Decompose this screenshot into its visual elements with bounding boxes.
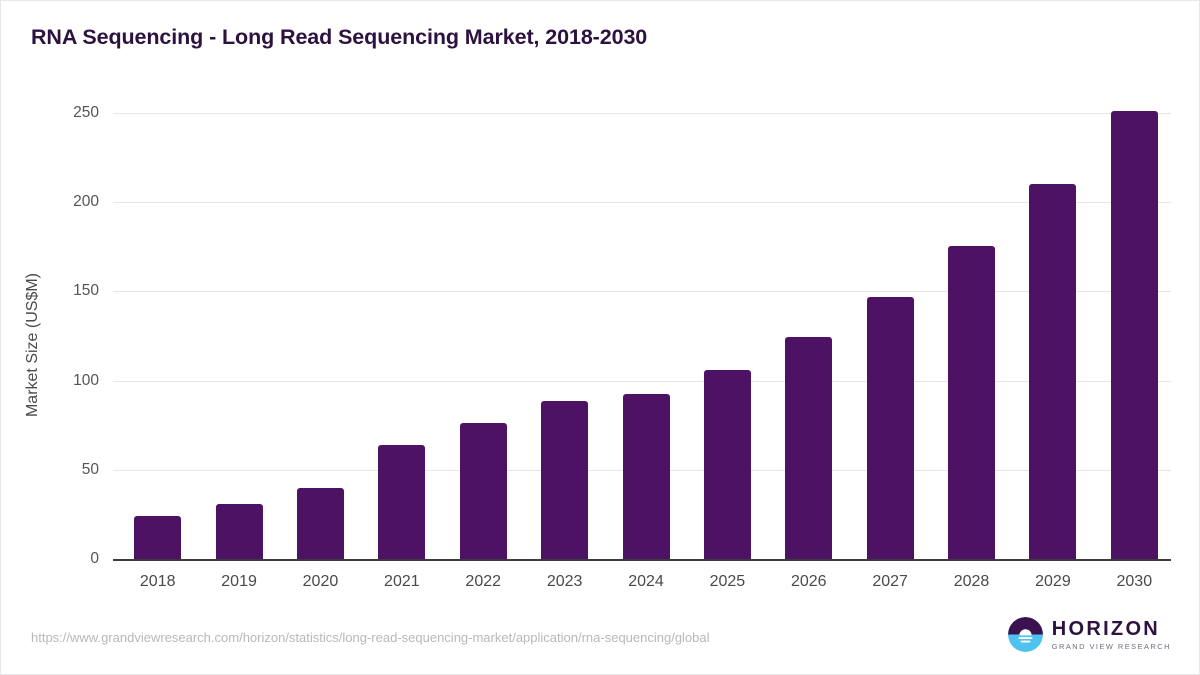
bar-2025[interactable]: [704, 370, 751, 559]
bar-2029[interactable]: [1029, 184, 1076, 559]
bar-2019[interactable]: [216, 504, 263, 559]
x-tick-label-2021: 2021: [384, 573, 420, 591]
y-tick-label: 250: [1, 104, 99, 122]
logo-subtitle: GRAND VIEW RESEARCH: [1052, 643, 1171, 650]
bar-2024[interactable]: [623, 394, 670, 559]
bar-2030[interactable]: [1111, 111, 1158, 559]
x-tick-label-2023: 2023: [547, 573, 583, 591]
bar-2022[interactable]: [460, 423, 507, 559]
gridline: [113, 113, 1171, 114]
x-tick-label-2029: 2029: [1035, 573, 1071, 591]
horizon-sun-circle-icon: [1008, 617, 1043, 652]
y-tick-label: 200: [1, 193, 99, 211]
logo-wordmark: HORIZON: [1052, 619, 1171, 639]
x-tick-label-2024: 2024: [628, 573, 664, 591]
bar-2021[interactable]: [378, 445, 425, 559]
y-tick-label: 150: [1, 282, 99, 300]
x-tick-label-2028: 2028: [954, 573, 990, 591]
y-tick-label: 50: [1, 461, 99, 479]
bar-2020[interactable]: [297, 488, 344, 559]
x-tick-label-2020: 2020: [303, 573, 339, 591]
gridline: [113, 291, 1171, 292]
bar-2018[interactable]: [134, 516, 181, 559]
page-title: RNA Sequencing - Long Read Sequencing Ma…: [31, 25, 647, 50]
gridline: [113, 202, 1171, 203]
y-tick-label: 100: [1, 372, 99, 390]
x-tick-label-2027: 2027: [872, 573, 908, 591]
chart-page: RNA Sequencing - Long Read Sequencing Ma…: [0, 0, 1200, 675]
horizon-logo: HORIZON GRAND VIEW RESEARCH: [1008, 617, 1171, 652]
y-axis-tick-labels: 050100150200250: [1, 1, 99, 675]
bar-2023[interactable]: [541, 401, 588, 559]
x-tick-label-2022: 2022: [465, 573, 501, 591]
x-tick-label-2026: 2026: [791, 573, 827, 591]
x-tick-label-2018: 2018: [140, 573, 176, 591]
y-tick-label: 0: [1, 550, 99, 568]
x-tick-label-2019: 2019: [221, 573, 257, 591]
x-axis-line: [113, 559, 1171, 561]
x-tick-label-2030: 2030: [1117, 573, 1153, 591]
bar-2028[interactable]: [948, 246, 995, 559]
bar-2027[interactable]: [867, 297, 914, 559]
logo-text: HORIZON GRAND VIEW RESEARCH: [1052, 619, 1171, 650]
plot-area: [113, 113, 1171, 559]
x-tick-label-2025: 2025: [710, 573, 746, 591]
gridline: [113, 381, 1171, 382]
source-url-text: https://www.grandviewresearch.com/horizo…: [31, 630, 710, 645]
bar-2026[interactable]: [785, 337, 832, 559]
